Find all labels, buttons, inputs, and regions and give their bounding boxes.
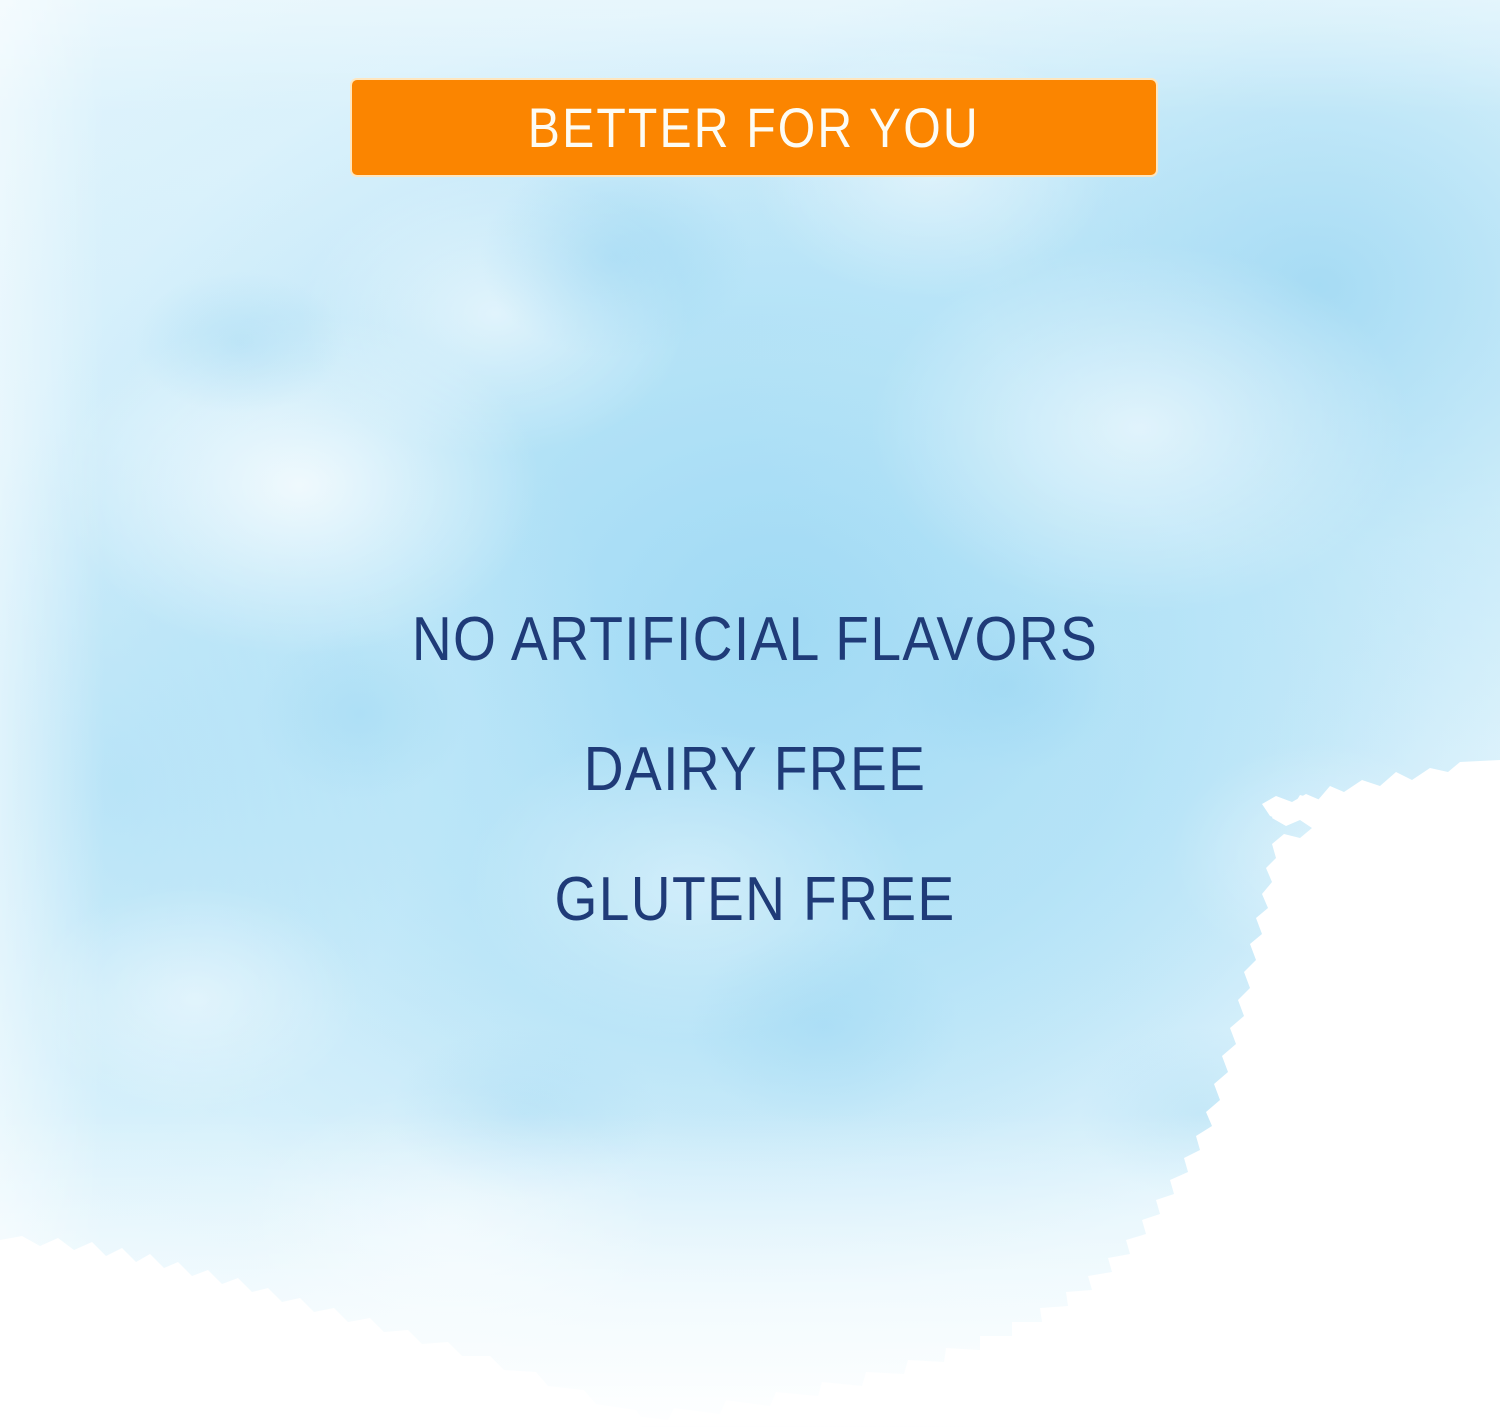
claim-dairy-free: DAIRY FREE [83, 705, 1427, 835]
product-claims-graphic: BETTER FOR YOU NO ARTIFICIAL FLAVORS DAI… [0, 0, 1500, 1427]
banner-label: BETTER FOR YOU [528, 100, 980, 156]
claim-gluten-free: GLUTEN FREE [83, 835, 1427, 965]
better-for-you-banner: BETTER FOR YOU [352, 80, 1156, 175]
claim-no-artificial-flavors: NO ARTIFICIAL FLAVORS [83, 575, 1427, 705]
claims-list: NO ARTIFICIAL FLAVORS DAIRY FREE GLUTEN … [0, 575, 1500, 965]
